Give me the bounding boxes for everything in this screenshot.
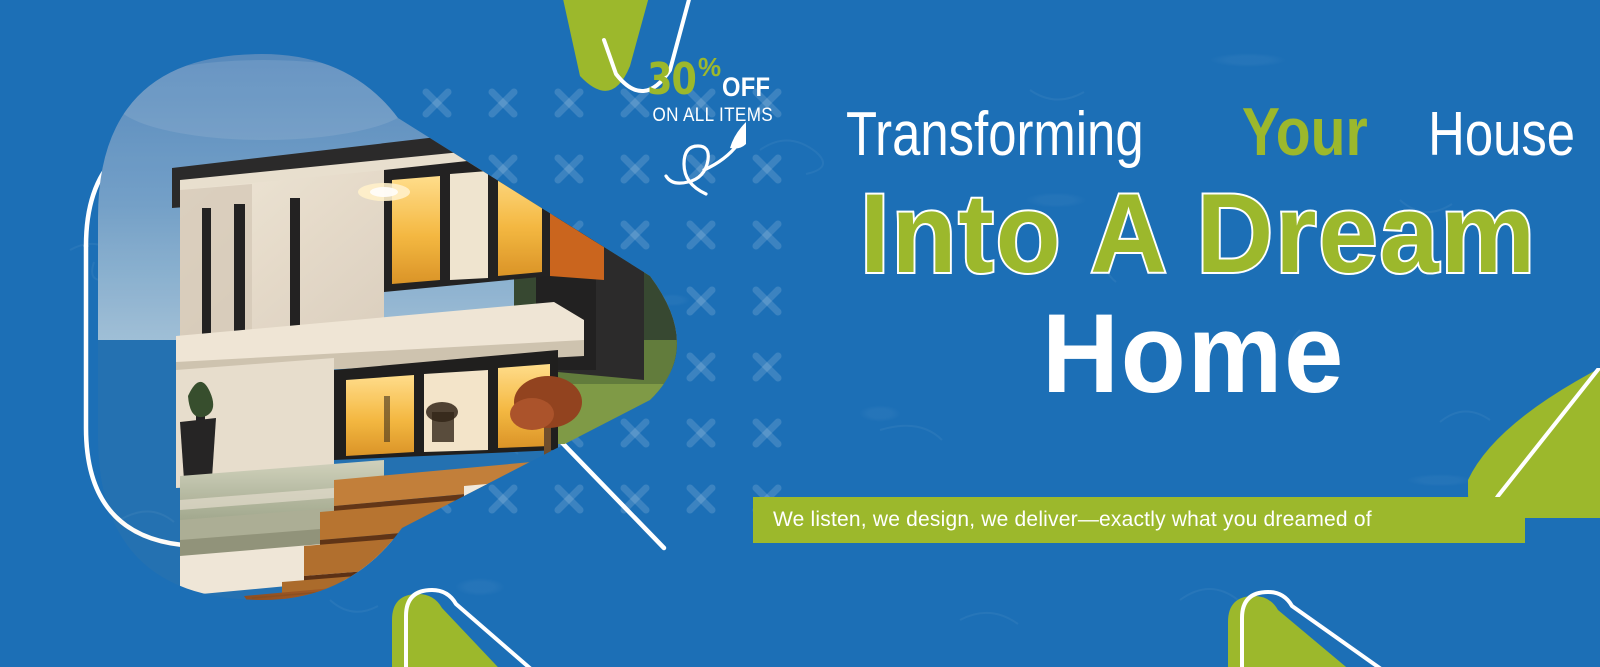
discount-percent-symbol: % — [698, 54, 721, 80]
discount-badge: 30 % OFF ON ALL ITEMS — [646, 58, 776, 208]
curved-arrow-icon — [660, 120, 770, 200]
headline-word-your: Your — [1226, 98, 1384, 166]
discount-badge-main-row: 30 % OFF — [646, 58, 776, 102]
green-wedge-decoration-right — [1468, 368, 1600, 518]
house-photo-container — [84, 40, 684, 620]
house-photo — [84, 40, 684, 620]
tagline-bar: We listen, we design, we deliver—exactly… — [753, 497, 1525, 543]
headline-line-3: Home — [1042, 298, 1345, 410]
headline-line-2: Into A Dream — [860, 178, 1537, 290]
tagline-text: We listen, we design, we deliver—exactly… — [773, 508, 1372, 532]
discount-number: 30 — [647, 58, 696, 102]
discount-off-label: OFF — [722, 74, 770, 101]
promo-banner: 30 % OFF ON ALL ITEMS Transforming Your … — [0, 0, 1600, 667]
green-shape-decoration-bottom-right — [1196, 572, 1446, 667]
headline-group: Transforming Your House Into A Dream Hom… — [846, 98, 1566, 166]
headline-line-1: Transforming Your House — [846, 98, 1566, 166]
headline-word-house: House — [1414, 104, 1575, 166]
headline-word-transforming: Transforming — [846, 104, 1158, 166]
